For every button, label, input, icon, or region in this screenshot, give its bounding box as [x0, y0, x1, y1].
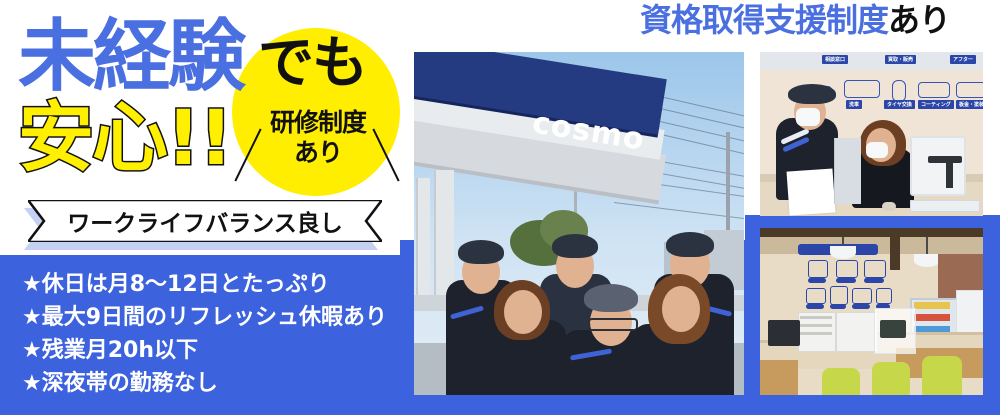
badge-line1-text: 研修制度 [258, 110, 378, 135]
waiting-chair [822, 368, 860, 395]
badge-demo-text: でも [258, 36, 366, 92]
service-icon [876, 288, 892, 304]
cooler-shelf [914, 314, 950, 321]
gas-station-staff-photo: cosmo [414, 52, 744, 395]
drawer-cabinet [836, 312, 878, 352]
support-system-title: 資格取得支援制度あり [640, 4, 950, 36]
staff-icon [808, 260, 828, 278]
wall-sign-label: 相談窓口 [822, 55, 848, 64]
monitor-arm [928, 156, 962, 163]
coating-car-icon [918, 82, 950, 98]
waiting-chair [922, 356, 962, 395]
monitor-stand [946, 162, 953, 188]
car-wash-icon [844, 80, 880, 98]
computer-monitor [910, 136, 966, 196]
icon-label [808, 278, 826, 283]
list-item: ★残業月20h以下 [22, 336, 387, 365]
car-icon [836, 260, 858, 278]
drawer-line [800, 316, 832, 319]
service-label: コーティング [918, 100, 954, 109]
drawer-line [800, 324, 832, 327]
lamp-cord [926, 237, 928, 255]
drawer-line [800, 332, 832, 335]
list-item: ★休日は月8～12日とたっぷり [22, 270, 387, 299]
bodywork-car-icon [956, 82, 983, 98]
icon-label [864, 278, 884, 283]
counter-consultation-photo: 相談窓口 買取・販売 アフター 洗車 タイヤ交換 コーティング 板金・塗装 [760, 52, 983, 216]
pendant-lamp [914, 254, 940, 267]
document-paper [787, 168, 836, 215]
partition-shelf [834, 138, 861, 204]
badge-line2-text: あり [258, 140, 378, 165]
pos-terminal [768, 320, 800, 346]
shop-interior-photo [760, 228, 983, 395]
icon-label [836, 278, 856, 283]
recruitment-banner: 資格取得支援制度あり でも 研修制度 あり 未経験 安心!! ワークライフバラン… [0, 0, 1000, 415]
service-label: 板金・塗装 [956, 100, 983, 109]
headline-line1: 未経験 [18, 18, 243, 96]
ceiling-beam [760, 228, 983, 237]
mouse [882, 202, 896, 211]
service-label: 洗車 [846, 100, 862, 109]
support-system-suffix: あり [888, 1, 950, 39]
tire-icon [892, 80, 906, 102]
eyeglasses-icon [588, 318, 638, 331]
canopy-pillar [416, 178, 430, 298]
tools-icon [864, 260, 886, 278]
support-system-highlight: 資格取得支援制度 [640, 1, 888, 39]
service-icon [852, 288, 872, 304]
cooler-shelf [914, 302, 950, 309]
list-item: ★最大9日間のリフレッシュ休暇あり [22, 303, 387, 332]
icon-label [806, 304, 824, 309]
keyboard [910, 200, 980, 212]
work-life-balance-ribbon: ワークライフバランス良し [28, 200, 382, 242]
icon-label [852, 304, 870, 309]
icon-label [830, 304, 846, 309]
service-icon [806, 288, 826, 304]
benefits-list: ★休日は月8～12日とたっぷり ★最大9日間のリフレッシュ休暇あり ★残業月20… [22, 270, 387, 398]
service-icon [830, 286, 848, 305]
waiting-chair [872, 362, 910, 395]
headline-line2: 安心!! [18, 100, 231, 176]
ceiling-beam [890, 228, 900, 270]
service-label: タイヤ交換 [884, 100, 915, 109]
wall-sign-label: アフター [950, 55, 976, 64]
list-item: ★深夜帯の勤務なし [22, 369, 387, 398]
ribbon-text: ワークライフバランス良し [67, 204, 343, 238]
counter-base [760, 360, 798, 395]
tablet-screen [880, 320, 906, 338]
wall-sign-label: 買取・販売 [885, 55, 916, 64]
canopy-pillar [434, 170, 454, 300]
pendant-lamp [830, 246, 856, 259]
